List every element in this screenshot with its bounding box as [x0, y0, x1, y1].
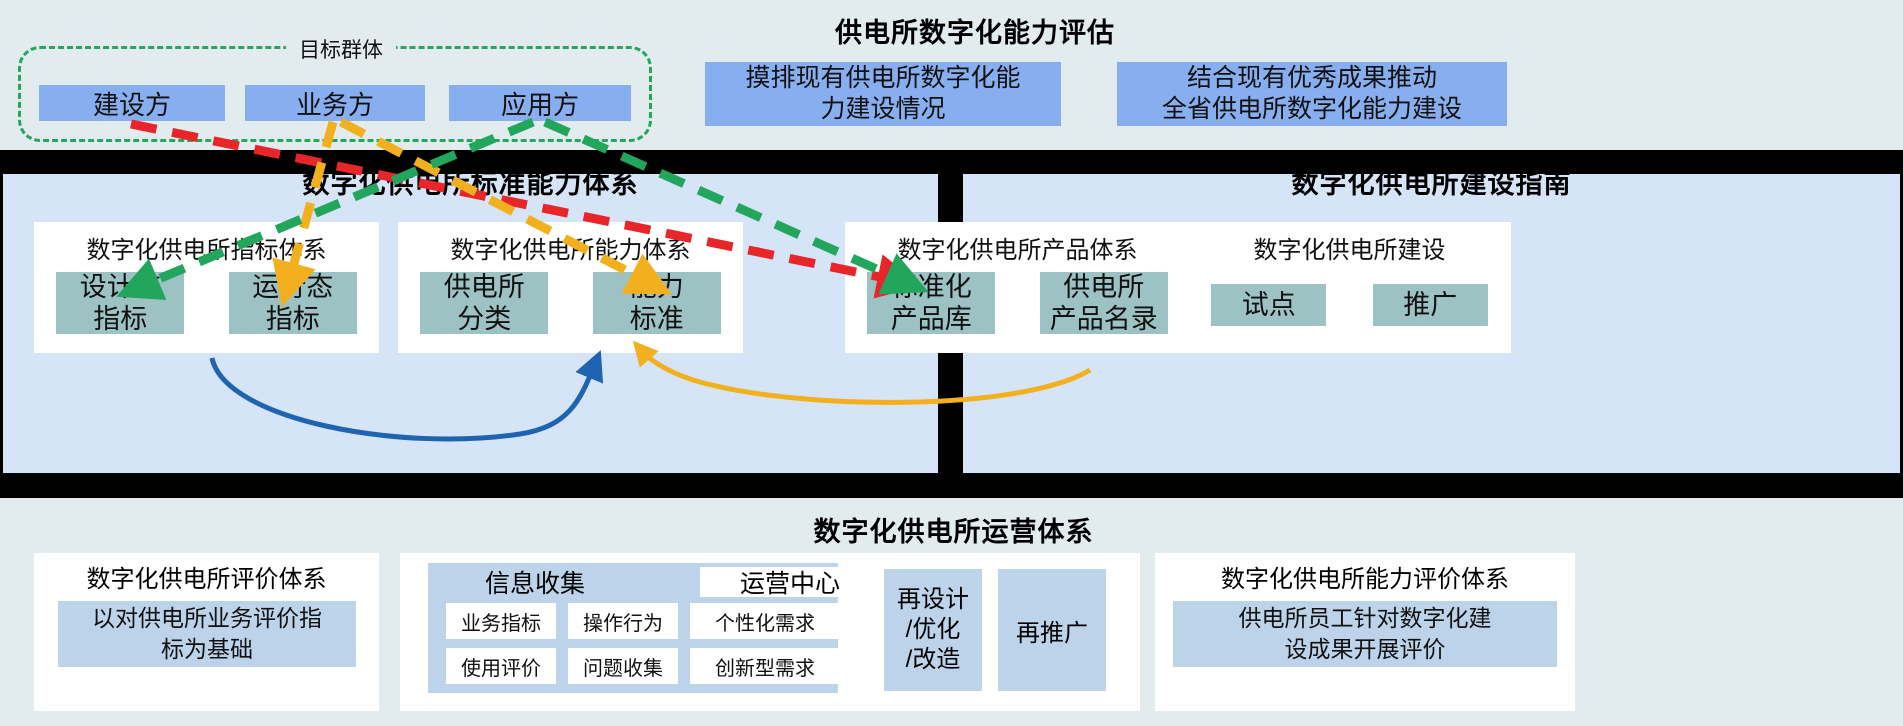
supply-station-product-catalog-line2: 产品名录: [1050, 303, 1158, 335]
audience-box-application[interactable]: 应用方: [449, 85, 631, 121]
information-collection-label: 信息收集: [400, 567, 670, 597]
redesign-box[interactable]: 再设计 /优化 /改造: [884, 569, 982, 691]
goal-box-promote-line1: 结合现有优秀成果推动: [1162, 63, 1462, 94]
capability-evaluation-card-subtitle: 供电所员工针对数字化建 设成果开展评价: [1173, 601, 1557, 667]
operation-center-card: 信息收集 运营中心 业务指标 操作行为 个性化需求 使用评价 问题收集 创新型需…: [400, 553, 1140, 711]
runtime-state-indicator-line1: 运行态: [252, 271, 333, 303]
construction-card-title: 数字化供电所建设: [1188, 232, 1511, 262]
tile-usage-evaluation[interactable]: 使用评价: [446, 648, 556, 684]
construction-card: 数字化供电所建设 试点 推广: [1188, 222, 1511, 353]
repromote-box[interactable]: 再推广: [998, 569, 1106, 691]
diagram-root: 目标群体 建设方 业务方 应用方 供电所数字化能力评估 摸排现有供电所数字化能 …: [0, 0, 1903, 726]
audience-box-builder[interactable]: 建设方: [39, 85, 225, 121]
product-system-card-title: 数字化供电所产品体系: [845, 232, 1190, 262]
capability-standard-line2: 标准: [630, 303, 684, 335]
goal-box-promote: 结合现有优秀成果推动 全省供电所数字化能力建设: [1117, 62, 1507, 126]
capability-subtitle-line2: 设成果开展评价: [1239, 634, 1492, 665]
redesign-line3: /改造: [897, 645, 969, 675]
supply-station-classification-box[interactable]: 供电所 分类: [420, 272, 548, 334]
evaluation-system-card-subtitle: 以对供电所业务评价指 标为基础: [58, 601, 356, 667]
design-state-indicator-line1: 设计态: [80, 271, 161, 303]
construction-guide-panel-title: 数字化供电所建设指南: [963, 164, 1900, 198]
redesign-line2: /优化: [897, 615, 969, 645]
standard-product-library-line1: 标准化: [891, 271, 972, 303]
supply-station-product-catalog-line1: 供电所: [1050, 271, 1158, 303]
tile-personalized-demand[interactable]: 个性化需求: [690, 603, 840, 639]
evaluation-subtitle-line2: 标为基础: [92, 634, 322, 665]
evaluation-system-card-title: 数字化供电所评价体系: [34, 561, 379, 591]
capability-system-card-title: 数字化供电所能力体系: [398, 232, 743, 262]
tile-issue-collection[interactable]: 问题收集: [568, 648, 678, 684]
goal-box-promote-line2: 全省供电所数字化能力建设: [1162, 94, 1462, 125]
evaluation-system-card: 数字化供电所评价体系 以对供电所业务评价指 标为基础: [34, 553, 379, 711]
redesign-line1: 再设计: [897, 585, 969, 615]
standard-product-library-line2: 产品库: [891, 303, 972, 335]
capability-evaluation-card-title: 数字化供电所能力评价体系: [1155, 561, 1575, 591]
goal-box-survey-line1: 摸排现有供电所数字化能: [745, 63, 1020, 94]
design-state-indicator-box[interactable]: 设计态 指标: [56, 272, 184, 334]
evaluation-subtitle-line1: 以对供电所业务评价指: [92, 603, 322, 634]
standard-product-library-box[interactable]: 标准化 产品库: [867, 272, 995, 334]
runtime-state-indicator-box[interactable]: 运行态 指标: [229, 272, 357, 334]
goal-box-survey: 摸排现有供电所数字化能 力建设情况: [705, 62, 1061, 126]
pilot-box[interactable]: 试点: [1211, 284, 1326, 326]
tile-operation-behavior[interactable]: 操作行为: [568, 603, 678, 639]
page-title: 供电所数字化能力评估: [640, 13, 1310, 47]
tile-business-indicator[interactable]: 业务指标: [446, 603, 556, 639]
audience-box-business[interactable]: 业务方: [245, 85, 425, 121]
capability-evaluation-card: 数字化供电所能力评价体系 供电所员工针对数字化建 设成果开展评价: [1155, 553, 1575, 711]
indicator-system-card: 数字化供电所指标体系 设计态 指标 运行态 指标: [34, 222, 379, 353]
supply-station-classification-line1: 供电所: [444, 271, 525, 303]
standard-capability-panel-title: 数字化供电所标准能力体系: [3, 164, 938, 198]
target-group-label: 目标群体: [286, 36, 396, 62]
capability-standard-line1: 能力: [630, 271, 684, 303]
top-region: 目标群体 建设方 业务方 应用方 供电所数字化能力评估 摸排现有供电所数字化能 …: [0, 0, 1903, 150]
operation-system-panel-title: 数字化供电所运营体系: [16, 512, 1891, 546]
indicator-system-card-title: 数字化供电所指标体系: [34, 232, 379, 262]
product-system-card: 数字化供电所产品体系 标准化 产品库 供电所 产品名录: [845, 222, 1190, 353]
capability-standard-box[interactable]: 能力 标准: [593, 272, 721, 334]
supply-station-classification-line2: 分类: [444, 303, 525, 335]
capability-subtitle-line1: 供电所员工针对数字化建: [1239, 603, 1492, 634]
supply-station-product-catalog-box[interactable]: 供电所 产品名录: [1040, 272, 1168, 334]
goal-box-survey-line2: 力建设情况: [745, 94, 1020, 125]
design-state-indicator-line2: 指标: [80, 303, 161, 335]
capability-system-card: 数字化供电所能力体系 供电所 分类 能力 标准: [398, 222, 743, 353]
operation-center-label: 运营中心: [700, 567, 880, 597]
runtime-state-indicator-line2: 指标: [252, 303, 333, 335]
tile-innovative-demand[interactable]: 创新型需求: [690, 648, 840, 684]
promotion-box[interactable]: 推广: [1373, 284, 1488, 326]
